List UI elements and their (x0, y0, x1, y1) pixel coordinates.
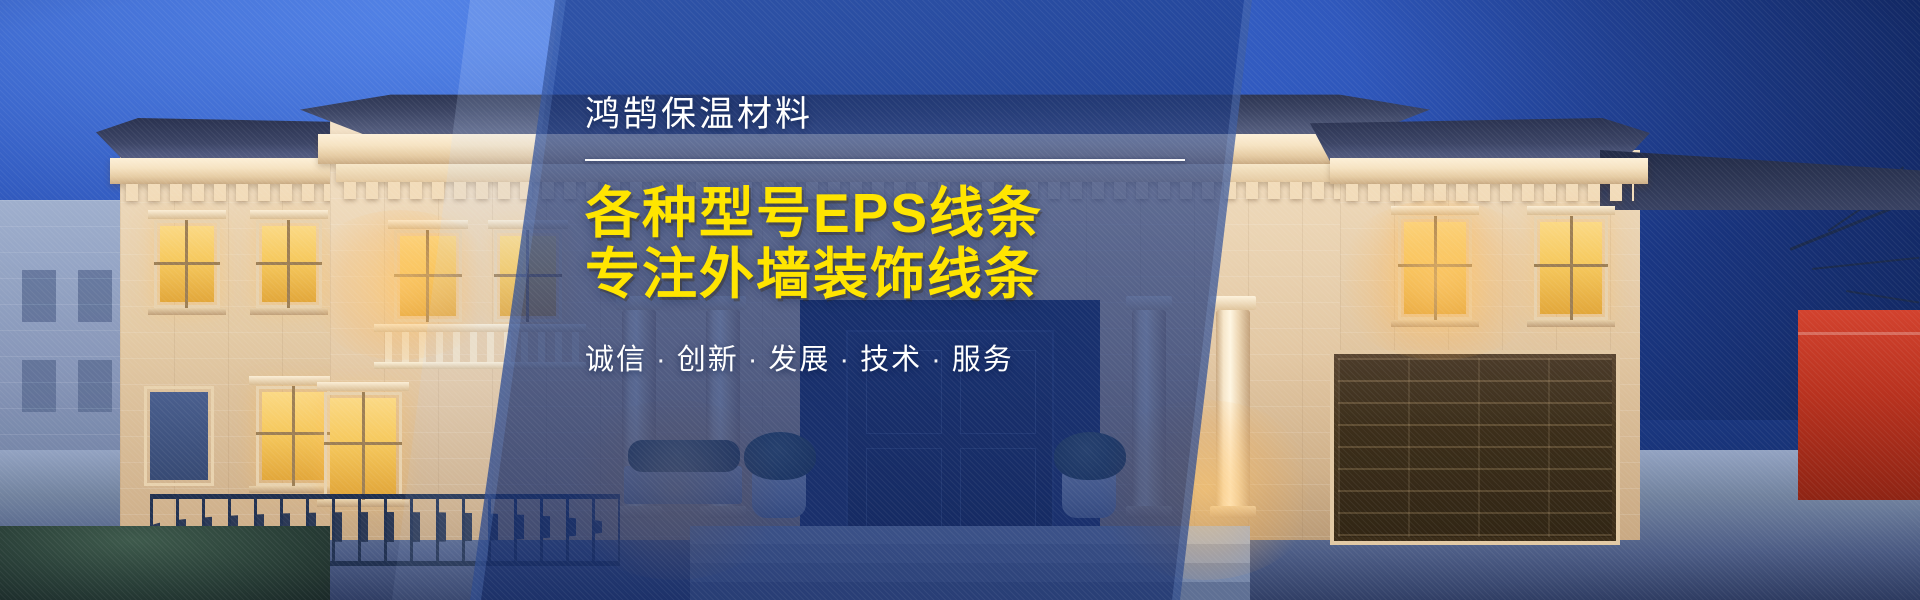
tagline-separator: · (931, 344, 943, 376)
banner-content: 鸿鹄保温材料 各种型号EPS线条 专注外墙装饰线条 诚信·创新·发展·技术·服务 (585, 96, 1225, 378)
tagline-separator: · (839, 344, 851, 376)
headline-line-2: 专注外墙装饰线条 (585, 244, 1225, 306)
brand-name: 鸿鹄保温材料 (585, 96, 1225, 135)
hedge-foreground (0, 526, 330, 600)
balustrade-left (380, 330, 580, 364)
tagline: 诚信·创新·发展·技术·服务 (585, 336, 1225, 378)
red-structure-right (1798, 310, 1920, 500)
tagline-separator: · (748, 344, 760, 376)
tagline-item: 服务 (952, 344, 1014, 376)
garage-door (1330, 350, 1620, 545)
tagline-separator: · (656, 344, 668, 376)
roof-right (1310, 118, 1650, 162)
headline-group: 各种型号EPS线条 专注外墙装饰线条 (585, 183, 1225, 306)
tagline-item: 技术 (860, 344, 922, 376)
tagline-item: 创新 (677, 344, 739, 376)
divider-rule (585, 159, 1185, 161)
promo-banner: 鸿鹄保温材料 各种型号EPS线条 专注外墙装饰线条 诚信·创新·发展·技术·服务 (0, 0, 1920, 600)
dentil-row-right (1346, 184, 1634, 201)
tagline-item: 发展 (768, 344, 830, 376)
headline-line-1: 各种型号EPS线条 (585, 183, 1225, 245)
tagline-item: 诚信 (585, 344, 647, 376)
entry-steps (690, 526, 1250, 600)
balustrade-rail-left (374, 324, 586, 332)
cornice-right (1330, 158, 1648, 184)
balustrade-base-left (374, 362, 586, 369)
